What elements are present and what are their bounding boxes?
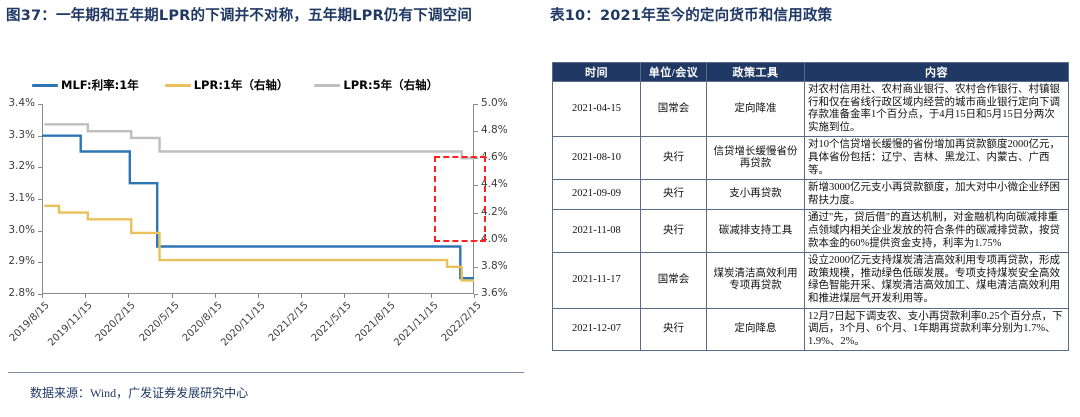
chart-plot-area: 2.8%2.9%3.0%3.1%3.2%3.3%3.4% 3.6%3.8%4.0… (42, 104, 474, 294)
chart-source-note: 数据来源：Wind，广发证券发展研究中心 (30, 384, 248, 401)
cell-date: 2021-08-10 (553, 137, 641, 180)
cell-org: 国常会 (641, 253, 707, 308)
table-header-cell-2: 政策工具 (707, 63, 805, 82)
legend-label: MLF:利率:1年 (61, 77, 139, 93)
cell-date: 2021-04-15 (553, 82, 641, 137)
x-tick (172, 294, 173, 298)
policy-table-head: 时间单位/会议政策工具内容 (553, 63, 1069, 82)
cell-org: 央行 (641, 180, 707, 210)
right-y-tick-label: 4.0% (481, 233, 508, 245)
table-row: 2021-08-10央行信贷增长缓慢省份再贷款对10个信贷增长缓慢的省份增加再贷… (553, 137, 1069, 180)
series-line-1 (44, 206, 474, 281)
x-tick-label: 2019/8/15 (3, 300, 52, 349)
x-tick-label: 2020/8/15 (176, 300, 225, 349)
x-tick (431, 294, 432, 298)
cell-date: 2021-11-08 (553, 210, 641, 253)
right-y-tick-label: 4.2% (481, 206, 508, 218)
left-y-tick-label: 2.9% (8, 255, 35, 267)
x-tick-label: 2020/11/15 (219, 300, 268, 349)
cell-content: 对10个信贷增长缓慢的省份增加再贷款额度2000亿元，具体省份包括：辽宁、吉林、… (805, 137, 1069, 180)
legend-swatch-icon (165, 84, 191, 87)
cell-date: 2021-11-17 (553, 253, 641, 308)
x-tick (474, 294, 475, 298)
left-y-tick-label: 2.8% (8, 287, 35, 299)
x-tick (128, 294, 129, 298)
report-page: 图37：一年期和五年期LPR的下调并不对称，五年期LPR仍有下调空间 MLF:利… (0, 0, 1080, 417)
x-tick (344, 294, 345, 298)
chart-series-lines (42, 104, 474, 294)
right-y-tick-label: 3.8% (481, 260, 508, 272)
figure-title: 图37：一年期和五年期LPR的下调并不对称，五年期LPR仍有下调空间 (6, 4, 526, 29)
left-y-tick-label: 3.4% (8, 97, 35, 109)
table-row: 2021-11-17国常会煤炭清洁高效利用专项再贷款设立2000亿元支持煤炭清洁… (553, 253, 1069, 308)
cell-org: 央行 (641, 308, 707, 351)
table-row: 2021-11-08央行碳减排支持工具通过"先，贷后借"的直达机制，对金融机构向… (553, 210, 1069, 253)
left-y-tick-label: 3.1% (8, 192, 35, 204)
policy-table: 时间单位/会议政策工具内容 2021-04-15国常会定向降准对农村信用社、农村… (552, 62, 1069, 351)
x-tick-label: 2021/5/15 (305, 300, 354, 349)
cell-tool: 定向降息 (707, 308, 805, 351)
lpr-mlf-line-chart: MLF:利率:1年LPR:1年（右轴）LPR:5年（右轴） 2.8%2.9%3.… (0, 62, 540, 352)
table-header-cell-1: 单位/会议 (641, 63, 707, 82)
x-tick-label: 2020/2/15 (89, 300, 138, 349)
series-line-0 (42, 136, 474, 279)
chart-panel: 图37：一年期和五年期LPR的下调并不对称，五年期LPR仍有下调空间 MLF:利… (0, 0, 540, 417)
table-title: 表10：2021年至今的定向货币和信用政策 (550, 4, 1070, 29)
cell-content: 通过"先，贷后借"的直达机制，对金融机构向碳减排重点领域内相关企业发放的符合条件… (805, 210, 1069, 253)
legend-item-2[interactable]: LPR:5年（右轴） (314, 77, 438, 93)
x-tick-label: 2021/2/15 (262, 300, 311, 349)
table-row: 2021-12-07央行定向降息12月7日起下调支农、支小再贷款利率0.25个百… (553, 308, 1069, 351)
legend-swatch-icon (32, 84, 58, 87)
x-tick (85, 294, 86, 298)
policy-table-body: 2021-04-15国常会定向降准对农村信用社、农村商业银行、农村合作银行、村镇… (553, 82, 1069, 351)
cell-tool: 支小再贷款 (707, 180, 805, 210)
series-line-2 (44, 124, 474, 158)
right-y-tick (474, 213, 478, 214)
left-y-tick-label: 3.0% (8, 224, 35, 236)
right-y-tick-label: 5.0% (481, 97, 508, 109)
right-y-tick-label: 4.8% (481, 124, 508, 136)
cell-tool: 定向降准 (707, 82, 805, 137)
right-y-tick (474, 104, 478, 105)
x-tick-label: 2022/2/15 (435, 300, 484, 349)
policy-table-wrapper: 时间单位/会议政策工具内容 2021-04-15国常会定向降准对农村信用社、农村… (552, 62, 1068, 351)
left-footer-divider (8, 372, 524, 373)
x-tick-label: 2021/8/15 (349, 300, 398, 349)
right-y-tick-label: 3.6% (481, 287, 508, 299)
cell-content: 新增3000亿元支小再贷款额度，加大对中小微企业纾困帮扶力度。 (805, 180, 1069, 210)
legend-item-0[interactable]: MLF:利率:1年 (32, 77, 139, 93)
cell-date: 2021-09-09 (553, 180, 641, 210)
right-y-tick (474, 158, 478, 159)
cell-content: 12月7日起下调支农、支小再贷款利率0.25个百分点，下调后，3个月、6个月、1… (805, 308, 1069, 351)
right-y-tick-label: 4.6% (481, 151, 508, 163)
legend-label: LPR:1年（右轴） (194, 77, 289, 93)
table-header-cell-3: 内容 (805, 63, 1069, 82)
x-tick (301, 294, 302, 298)
cell-content: 设立2000亿元支持煤炭清洁高效利用专项再贷款，形成政策规模，推动绿色低碳发展。… (805, 253, 1069, 308)
right-y-tick (474, 240, 478, 241)
table-row: 2021-09-09央行支小再贷款新增3000亿元支小再贷款额度，加大对中小微企… (553, 180, 1069, 210)
table-header-cell-0: 时间 (553, 63, 641, 82)
x-tick-label: 2019/11/15 (46, 300, 95, 349)
x-tick-label: 2021/11/15 (392, 300, 441, 349)
table-row: 2021-04-15国常会定向降准对农村信用社、农村商业银行、农村合作银行、村镇… (553, 82, 1069, 137)
right-y-tick (474, 131, 478, 132)
cell-org: 国常会 (641, 82, 707, 137)
x-tick-label: 2020/5/15 (133, 300, 182, 349)
right-y-tick (474, 185, 478, 186)
cell-org: 央行 (641, 210, 707, 253)
left-y-tick-label: 3.2% (8, 160, 35, 172)
x-tick (215, 294, 216, 298)
table-header-row: 时间单位/会议政策工具内容 (553, 63, 1069, 82)
table-panel: 表10：2021年至今的定向货币和信用政策 时间单位/会议政策工具内容 2021… (540, 0, 1080, 417)
legend-label: LPR:5年（右轴） (343, 77, 438, 93)
left-y-tick-label: 3.3% (8, 129, 35, 141)
legend-item-1[interactable]: LPR:1年（右轴） (165, 77, 289, 93)
cell-date: 2021-12-07 (553, 308, 641, 351)
x-tick (258, 294, 259, 298)
cell-org: 央行 (641, 137, 707, 180)
cell-content: 对农村信用社、农村商业银行、农村合作银行、村镇银行和仅在省线行政区域内经营的城市… (805, 82, 1069, 137)
cell-tool: 煤炭清洁高效利用专项再贷款 (707, 253, 805, 308)
x-tick (388, 294, 389, 298)
cell-tool: 信贷增长缓慢省份再贷款 (707, 137, 805, 180)
legend-swatch-icon (314, 84, 340, 87)
x-tick (42, 294, 43, 298)
cell-tool: 碳减排支持工具 (707, 210, 805, 253)
right-y-tick-label: 4.4% (481, 178, 508, 190)
right-y-tick (474, 267, 478, 268)
chart-legend: MLF:利率:1年LPR:1年（右轴）LPR:5年（右轴） (32, 76, 512, 94)
